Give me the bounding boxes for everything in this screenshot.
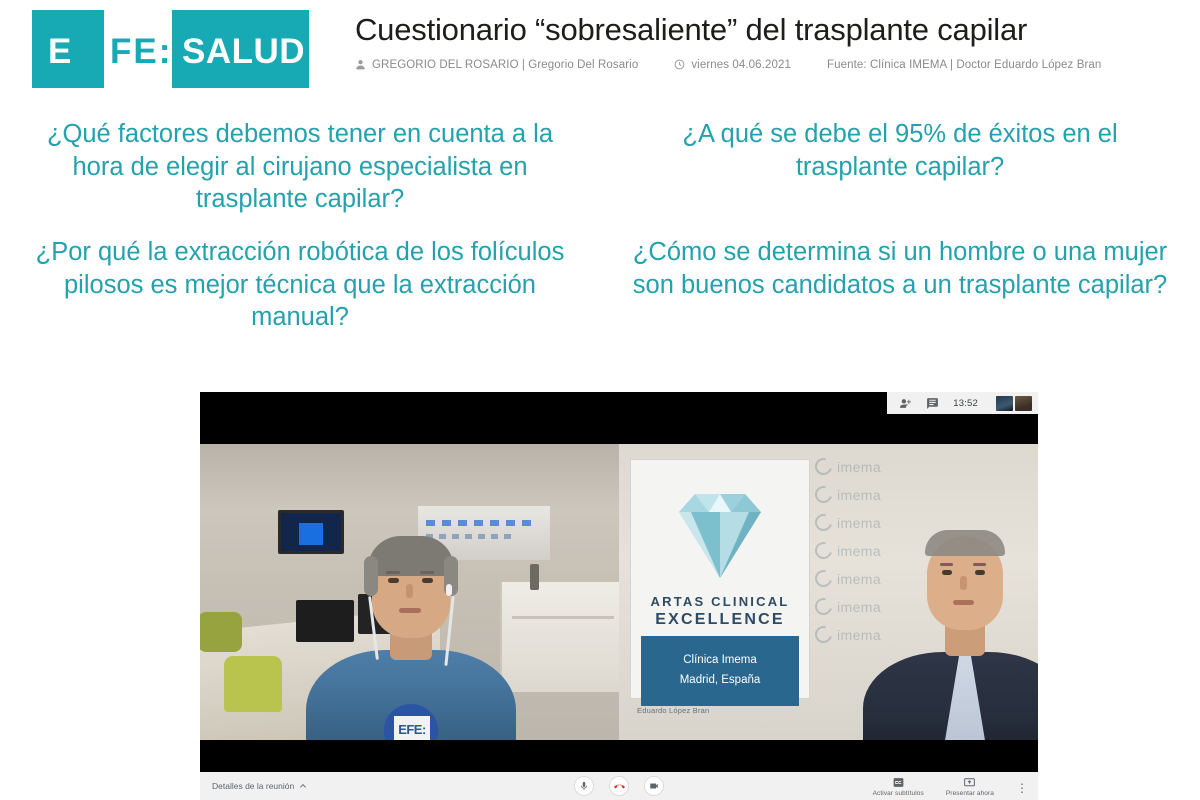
imema-mark-icon [812, 595, 835, 618]
imema-mark-icon [812, 511, 835, 534]
letterbox-bottom [200, 740, 1038, 772]
captions-button[interactable]: Activar subtítulos [873, 776, 924, 797]
imema-mark-icon [812, 623, 835, 646]
doctor-eyebrow-right [973, 563, 986, 566]
imema-wall-word: imema [837, 487, 881, 503]
captions-label: Activar subtítulos [873, 790, 924, 797]
diamond-icon [659, 486, 781, 584]
poster-clinic-location: Madrid, España [641, 674, 799, 686]
byline: GREGORIO DEL ROSARIO | Gregorio Del Rosa… [355, 59, 1155, 71]
participant-thumbnail[interactable] [996, 396, 1013, 411]
end-call-button[interactable] [609, 776, 629, 796]
participant-feed-right[interactable]: ARTAS CLINICAL EXCELLENCE Clínica Imema … [619, 444, 1038, 740]
microphone-logo: EFE: [394, 716, 430, 740]
reporter-earphone [446, 584, 452, 596]
poster-band: Clínica Imema Madrid, España [641, 636, 799, 706]
doctor-eyebrow-left [940, 563, 953, 566]
present-screen-icon [963, 776, 976, 789]
poster-title-line-2: EXCELLENCE [631, 611, 809, 629]
doctor-eye-right [975, 570, 985, 575]
logo-part-salud: SALUD [182, 32, 305, 72]
video-call-embed[interactable]: 13:52 [200, 392, 1038, 800]
participant-thumbnails[interactable] [996, 396, 1032, 411]
logo-part-e: E [48, 32, 71, 72]
video-stage[interactable]: EFE: [200, 414, 1038, 772]
page-title: Cuestionario “sobresaliente” del traspla… [355, 12, 1155, 48]
newsroom-bottle [530, 564, 539, 590]
newsroom-shelf [500, 582, 619, 692]
artas-poster: ARTAS CLINICAL EXCELLENCE Clínica Imema … [631, 460, 809, 698]
participant-thumbnail[interactable] [1015, 396, 1032, 411]
microphone-button[interactable] [574, 776, 594, 796]
meeting-details-label: Detalles de la reunión [212, 781, 294, 791]
imema-mark-icon [812, 455, 835, 478]
byline-date: viernes 04.06.2021 [691, 59, 791, 71]
imema-mark-icon [812, 567, 835, 590]
video-call-bottom-bar: Detalles de la reunión [200, 772, 1038, 800]
doctor-hair [925, 530, 1005, 556]
participant-feed-left[interactable]: EFE: [200, 444, 619, 740]
questions-grid: ¿Qué factores debemos tener en cuenta a … [0, 118, 1200, 346]
letterbox-top [200, 414, 1038, 444]
doctor-nose [960, 576, 967, 590]
poster-title-line-1: ARTAS CLINICAL [631, 594, 809, 609]
reporter-nose [406, 584, 413, 598]
question-1: ¿Qué factores debemos tener en cuenta a … [0, 118, 600, 236]
logo-part-fe: FE: [110, 32, 172, 72]
imema-wall-logo-row: imema [815, 486, 925, 503]
clock-icon [674, 59, 685, 70]
question-2: ¿A qué se debe el 95% de éxitos en el tr… [600, 118, 1200, 236]
user-icon [355, 59, 366, 70]
imema-wall-logo-row: imema [815, 458, 925, 475]
people-add-icon[interactable] [899, 397, 912, 410]
participant-name-tag: Eduardo López Bran [637, 706, 709, 715]
reporter-eyebrow-left [386, 571, 400, 574]
chevron-up-icon [299, 782, 307, 790]
closed-captions-icon [892, 776, 905, 789]
doctor-figure [869, 516, 1038, 740]
camera-button[interactable] [644, 776, 664, 796]
byline-date-segment: viernes 04.06.2021 [674, 59, 791, 71]
doctor-mouth [953, 600, 974, 605]
imema-mark-icon [812, 483, 835, 506]
reporter-eye-right [422, 578, 433, 583]
article-header: E FE: SALUD Cuestionario “sobresaliente”… [0, 0, 1200, 100]
meeting-time: 13:52 [953, 398, 978, 409]
poster-clinic-name: Clínica Imema [641, 654, 799, 666]
reporter-eyebrow-right [420, 571, 434, 574]
reporter-hair-left [364, 556, 378, 596]
meeting-actions: Activar subtítulos Presentar ahora ⋮ [873, 776, 1028, 797]
video-call-top-bar: 13:52 [887, 392, 1038, 414]
chat-icon[interactable] [926, 397, 939, 410]
efe-salud-logo[interactable]: E FE: SALUD [32, 10, 309, 88]
imema-mark-icon [812, 539, 835, 562]
byline-author: GREGORIO DEL ROSARIO | Gregorio Del Rosa… [372, 59, 638, 71]
reporter-figure: EFE: [306, 522, 516, 740]
imema-wall-word: imema [837, 459, 881, 475]
reporter-mouth [399, 608, 421, 613]
doctor-eye-left [942, 570, 952, 575]
question-4: ¿Cómo se determina si un hombre o una mu… [600, 236, 1200, 346]
byline-author-segment: GREGORIO DEL ROSARIO | Gregorio Del Rosa… [355, 59, 638, 71]
title-block: Cuestionario “sobresaliente” del traspla… [355, 12, 1155, 71]
reporter-eye-left [388, 578, 399, 583]
reporter-hair [368, 536, 454, 576]
page-root: E FE: SALUD Cuestionario “sobresaliente”… [0, 0, 1200, 800]
call-controls [554, 776, 684, 796]
meeting-details-button[interactable]: Detalles de la reunión [200, 781, 307, 791]
present-now-button[interactable]: Presentar ahora [946, 776, 994, 797]
more-vertical-icon[interactable]: ⋮ [1016, 782, 1028, 797]
question-3: ¿Por qué la extracción robótica de los f… [0, 236, 600, 346]
byline-source: Fuente: Clínica IMEMA | Doctor Eduardo L… [827, 59, 1101, 71]
newsroom-chair [224, 656, 282, 712]
newsroom-chair-back [200, 612, 242, 652]
video-feed: EFE: [200, 444, 1038, 740]
present-now-label: Presentar ahora [946, 790, 994, 797]
